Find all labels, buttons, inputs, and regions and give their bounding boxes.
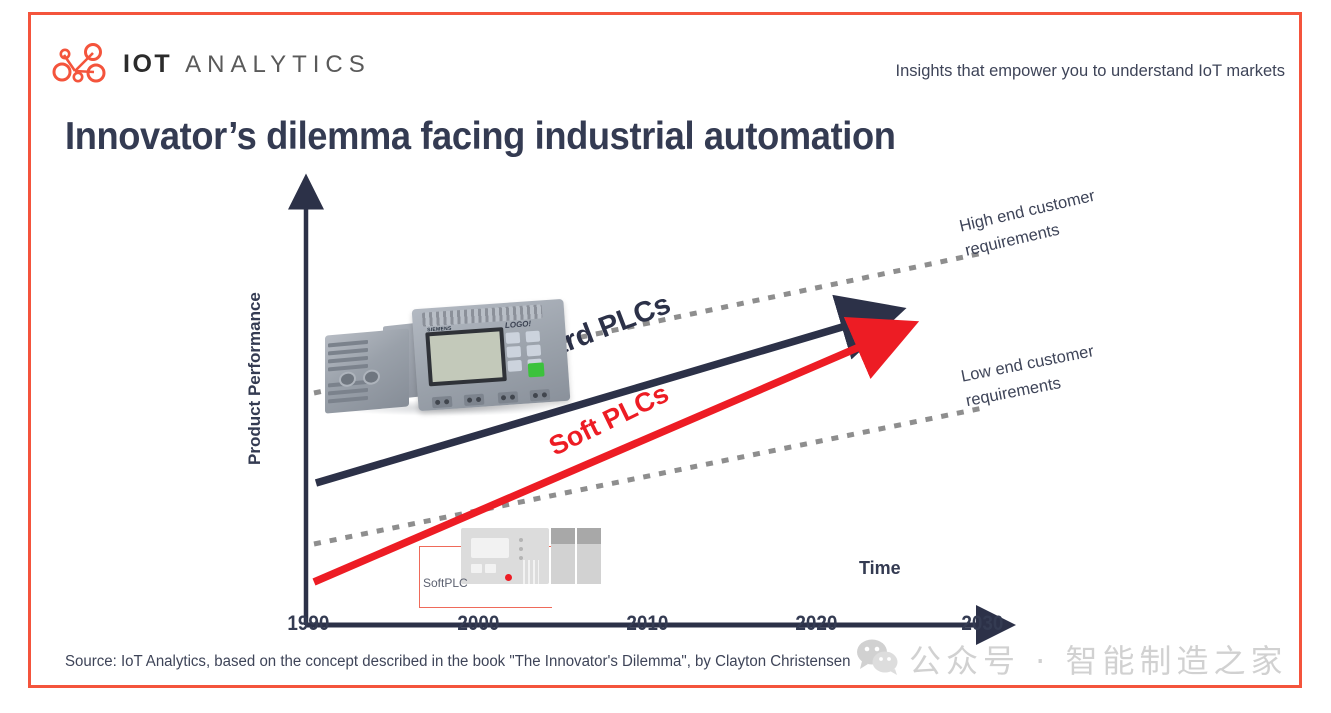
chart-area: Product Performance Time 1990 2000 2010 … xyxy=(31,165,1305,645)
soft-plc-display xyxy=(471,538,509,558)
soft-plc-status-dot xyxy=(505,574,512,581)
x-tick-1990: 1990 xyxy=(287,612,329,636)
plc-model-label: LOGO! xyxy=(505,319,532,330)
plc-power-module xyxy=(325,328,409,413)
watermark-text: 公众号 · 智能制造之家 xyxy=(909,636,1288,682)
page-title: Innovator’s dilemma facing industrial au… xyxy=(65,115,896,159)
slide-frame: IOT ANALYTICS Insights that empower you … xyxy=(28,12,1302,688)
slide-header: IOT ANALYTICS Insights that empower you … xyxy=(31,15,1299,101)
soft-plc-leds xyxy=(519,538,524,560)
x-axis-title: Time xyxy=(859,558,901,579)
network-nodes-icon xyxy=(47,41,109,87)
soft-plc-graphic: SoftPLC xyxy=(419,520,595,612)
soft-plc-controller xyxy=(461,528,549,584)
soft-plc-grill xyxy=(523,560,539,584)
y-axis-title: Product Performance xyxy=(245,292,265,465)
plc-green-button xyxy=(528,362,545,377)
wechat-icon xyxy=(855,638,899,681)
x-tick-2010: 2010 xyxy=(626,612,668,636)
plc-logo-unit: SIEMENS LOGO! xyxy=(412,299,571,411)
logo-text-iot: IOT xyxy=(123,50,172,79)
x-tick-2020: 2020 xyxy=(795,612,837,636)
logo-text-analytics: ANALYTICS xyxy=(185,51,371,79)
x-tick-2030: 2030 xyxy=(961,612,1003,636)
iot-analytics-logo: IOT ANALYTICS xyxy=(47,41,371,87)
plc-lcd-screen xyxy=(425,327,507,386)
low-end-requirement-line xyxy=(314,408,983,544)
source-note: Source: IoT Analytics, based on the conc… xyxy=(65,653,850,671)
watermark: 公众号 · 智能制造之家 xyxy=(855,636,1288,682)
soft-plc-caption: SoftPLC xyxy=(423,576,468,590)
hard-plc-photo: SIEMENS LOGO! xyxy=(323,304,567,416)
x-tick-2000: 2000 xyxy=(457,612,499,636)
header-tagline: Insights that empower you to understand … xyxy=(896,62,1285,81)
